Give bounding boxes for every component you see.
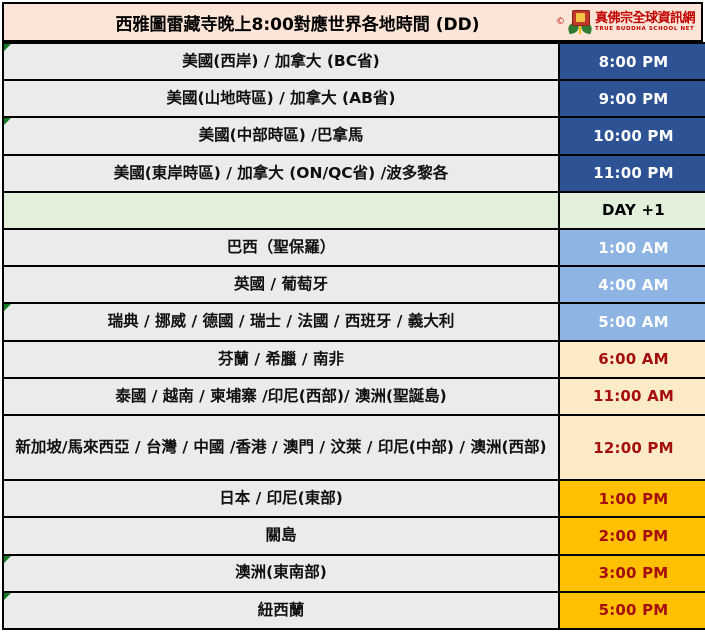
true-buddha-school-net-logo: © 真佛宗全球資訊網 TRUE BUDDHA SCHOOL NET <box>556 7 695 37</box>
time-label: 1:00 PM <box>599 490 669 508</box>
region-cell[interactable] <box>3 192 559 229</box>
copyright-icon: © <box>556 18 565 27</box>
time-label: 10:00 PM <box>593 127 674 145</box>
cell-marker-icon <box>4 593 11 600</box>
time-label: 11:00 PM <box>593 164 674 182</box>
table-row: 巴西（聖保羅）1:00 AM <box>3 229 705 266</box>
table-row: 美國(西岸) / 加拿大 (BC省)8:00 PM <box>3 43 705 80</box>
table-row: 英國 / 葡萄牙4:00 AM <box>3 266 705 303</box>
region-cell[interactable]: 美國(山地時區) / 加拿大 (AB省) <box>3 80 559 117</box>
region-cell[interactable]: 瑞典 / 挪威 / 德國 / 瑞士 / 法國 / 西班牙 / 義大利 <box>3 303 559 340</box>
spreadsheet-canvas: 西雅圖雷藏寺晚上8:00對應世界各地時間 (DD) © 真佛宗全球資訊網 TRU… <box>0 2 705 632</box>
logo-wordmark: 真佛宗全球資訊網 TRUE BUDDHA SCHOOL NET <box>595 12 695 33</box>
region-label: 紐西蘭 <box>258 601 305 619</box>
region-cell[interactable]: 巴西（聖保羅） <box>3 229 559 266</box>
table-row: 澳洲(東南部)3:00 PM <box>3 555 705 592</box>
region-label: 瑞典 / 挪威 / 德國 / 瑞士 / 法國 / 西班牙 / 義大利 <box>108 312 455 330</box>
time-cell[interactable]: 12:00 PM <box>559 415 705 480</box>
timezone-table-body: 美國(西岸) / 加拿大 (BC省)8:00 PM美國(山地時區) / 加拿大 … <box>3 43 705 629</box>
time-cell[interactable]: 1:00 PM <box>559 480 705 517</box>
lotus-emblem-icon <box>568 10 592 34</box>
region-cell[interactable]: 新加坡/馬來西亞 / 台灣 / 中國 /香港 / 澳門 / 汶萊 / 印尼(中部… <box>3 415 559 480</box>
region-label: 美國(山地時區) / 加拿大 (AB省) <box>167 89 396 107</box>
region-label: 關島 <box>265 526 296 544</box>
region-cell[interactable]: 英國 / 葡萄牙 <box>3 266 559 303</box>
region-cell[interactable]: 泰國 / 越南 / 柬埔寨 /印尼(西部)/ 澳洲(聖誕島) <box>3 378 559 415</box>
timezone-table: 美國(西岸) / 加拿大 (BC省)8:00 PM美國(山地時區) / 加拿大 … <box>2 42 705 630</box>
time-cell[interactable]: 11:00 PM <box>559 155 705 192</box>
logo-name-english: TRUE BUDDHA SCHOOL NET <box>595 27 695 33</box>
region-cell[interactable]: 美國(東岸時區) / 加拿大 (ON/QC省) /波多黎各 <box>3 155 559 192</box>
time-label: 6:00 AM <box>598 350 668 368</box>
table-row: 瑞典 / 挪威 / 德國 / 瑞士 / 法國 / 西班牙 / 義大利5:00 A… <box>3 303 705 340</box>
time-cell[interactable]: 6:00 AM <box>559 341 705 378</box>
region-cell[interactable]: 美國(西岸) / 加拿大 (BC省) <box>3 43 559 80</box>
region-label: 澳洲(東南部) <box>235 563 327 581</box>
table-row: 日本 / 印尼(東部)1:00 PM <box>3 480 705 517</box>
region-label: 美國(中部時區) /巴拿馬 <box>199 126 364 144</box>
region-label: 美國(西岸) / 加拿大 (BC省) <box>182 52 379 70</box>
table-row: 美國(中部時區) /巴拿馬10:00 PM <box>3 117 705 154</box>
logo-name-chinese: 真佛宗全球資訊網 <box>595 12 695 25</box>
table-row: 芬蘭 / 希臘 / 南非6:00 AM <box>3 341 705 378</box>
time-label: 9:00 PM <box>599 90 669 108</box>
table-row: 關島2:00 PM <box>3 517 705 554</box>
cell-marker-icon <box>4 304 11 311</box>
region-cell[interactable]: 美國(中部時區) /巴拿馬 <box>3 117 559 154</box>
table-row: DAY +1 <box>3 192 705 229</box>
region-label: 日本 / 印尼(東部) <box>219 489 343 507</box>
region-cell[interactable]: 日本 / 印尼(東部) <box>3 480 559 517</box>
region-label: 美國(東岸時區) / 加拿大 (ON/QC省) /波多黎各 <box>114 164 449 182</box>
time-label: 5:00 PM <box>599 601 669 619</box>
time-label: DAY +1 <box>602 201 665 219</box>
table-row: 美國(東岸時區) / 加拿大 (ON/QC省) /波多黎各11:00 PM <box>3 155 705 192</box>
time-label: 11:00 AM <box>593 387 674 405</box>
time-cell[interactable]: 11:00 AM <box>559 378 705 415</box>
cell-marker-icon <box>4 118 11 125</box>
time-label: 3:00 PM <box>599 564 669 582</box>
table-row: 紐西蘭5:00 PM <box>3 592 705 629</box>
region-label: 芬蘭 / 希臘 / 南非 <box>218 350 344 368</box>
table-row: 泰國 / 越南 / 柬埔寨 /印尼(西部)/ 澳洲(聖誕島)11:00 AM <box>3 378 705 415</box>
time-cell[interactable]: 1:00 AM <box>559 229 705 266</box>
time-cell[interactable]: 2:00 PM <box>559 517 705 554</box>
time-label: 4:00 AM <box>598 276 668 294</box>
time-cell[interactable]: 4:00 AM <box>559 266 705 303</box>
region-label: 泰國 / 越南 / 柬埔寨 /印尼(西部)/ 澳洲(聖誕島) <box>115 387 446 405</box>
region-cell[interactable]: 關島 <box>3 517 559 554</box>
time-label: 8:00 PM <box>599 53 669 71</box>
time-cell[interactable]: DAY +1 <box>559 192 705 229</box>
time-label: 1:00 AM <box>598 239 668 257</box>
time-cell[interactable]: 5:00 AM <box>559 303 705 340</box>
cell-marker-icon <box>4 44 11 51</box>
region-cell[interactable]: 紐西蘭 <box>3 592 559 629</box>
table-row: 美國(山地時區) / 加拿大 (AB省)9:00 PM <box>3 80 705 117</box>
time-cell[interactable]: 10:00 PM <box>559 117 705 154</box>
time-cell[interactable]: 3:00 PM <box>559 555 705 592</box>
region-label: 新加坡/馬來西亞 / 台灣 / 中國 /香港 / 澳門 / 汶萊 / 印尼(中部… <box>15 438 546 456</box>
table-row: 新加坡/馬來西亞 / 台灣 / 中國 /香港 / 澳門 / 汶萊 / 印尼(中部… <box>3 415 705 480</box>
title-bar: 西雅圖雷藏寺晚上8:00對應世界各地時間 (DD) © 真佛宗全球資訊網 TRU… <box>2 2 703 42</box>
time-label: 2:00 PM <box>599 527 669 545</box>
time-cell[interactable]: 9:00 PM <box>559 80 705 117</box>
region-label: 巴西（聖保羅） <box>227 238 336 256</box>
region-cell[interactable]: 芬蘭 / 希臘 / 南非 <box>3 341 559 378</box>
cell-marker-icon <box>4 556 11 563</box>
region-cell[interactable]: 澳洲(東南部) <box>3 555 559 592</box>
page-title: 西雅圖雷藏寺晚上8:00對應世界各地時間 (DD) <box>116 10 590 35</box>
region-label: 英國 / 葡萄牙 <box>234 275 328 293</box>
time-cell[interactable]: 5:00 PM <box>559 592 705 629</box>
time-cell[interactable]: 8:00 PM <box>559 43 705 80</box>
time-label: 12:00 PM <box>593 439 674 457</box>
time-label: 5:00 AM <box>598 313 668 331</box>
